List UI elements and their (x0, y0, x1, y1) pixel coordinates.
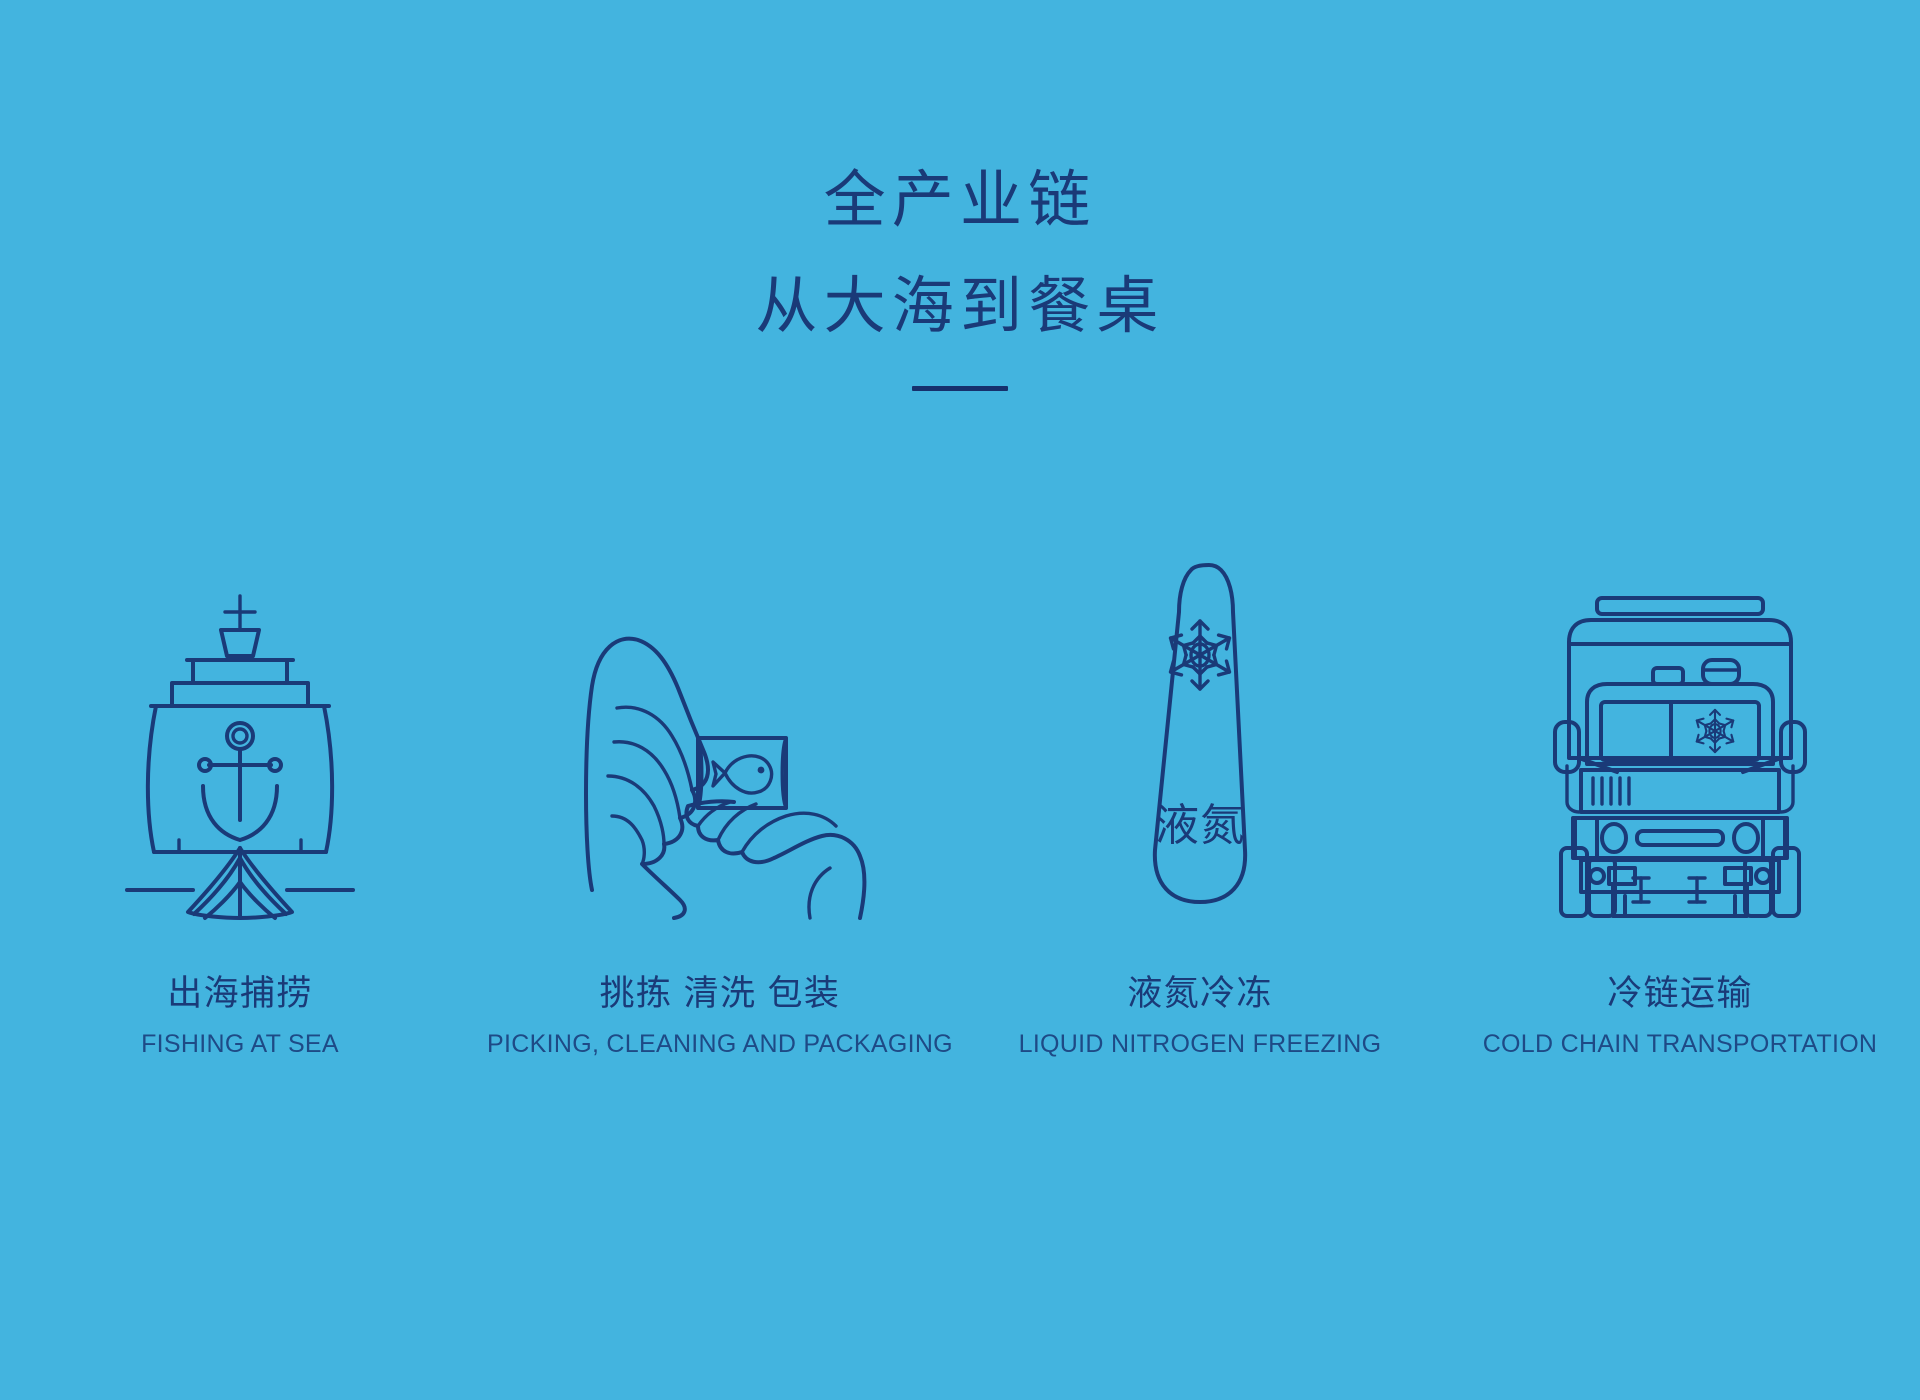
page-title-secondary: 从大海到餐桌 (0, 276, 1920, 338)
icon-slot: 液氮 (1125, 520, 1275, 920)
process-steps: 出海捕捞 FISHING AT SEA (0, 520, 1920, 1059)
hands-fish-package-icon (570, 590, 870, 920)
step-cold-chain-transportation[interactable]: 冷链运输 COLD CHAIN TRANSPORTATION (1440, 520, 1920, 1059)
page-title-primary: 全产业链 (0, 170, 1920, 232)
poster-canvas: 全产业链 从大海到餐桌 (0, 0, 1920, 1400)
step-labels: 挑拣 清洗 包装 PICKING, CLEANING AND PACKAGING (487, 974, 953, 1059)
header: 全产业链 从大海到餐桌 (0, 170, 1920, 391)
refrigerated-truck-icon (1545, 590, 1815, 920)
icon-slot (570, 520, 870, 920)
step-liquid-nitrogen-freezing[interactable]: 液氮 液氮冷冻 LIQUID NITROGEN FREEZING (960, 520, 1440, 1059)
step-label-en: COLD CHAIN TRANSPORTATION (1483, 1030, 1878, 1059)
title-divider-wrap (0, 386, 1920, 391)
step-labels: 液氮冷冻 LIQUID NITROGEN FREEZING (1019, 974, 1382, 1059)
title-divider (912, 386, 1008, 391)
tank-label: 液氮 (1155, 801, 1245, 850)
step-fishing-at-sea[interactable]: 出海捕捞 FISHING AT SEA (0, 520, 480, 1059)
step-labels: 冷链运输 COLD CHAIN TRANSPORTATION (1483, 974, 1878, 1059)
step-label-en: PICKING, CLEANING AND PACKAGING (487, 1030, 953, 1059)
icon-slot (115, 520, 365, 920)
step-labels: 出海捕捞 FISHING AT SEA (141, 974, 339, 1059)
step-label-en: FISHING AT SEA (141, 1030, 339, 1059)
step-label-cn: 液氮冷冻 (1019, 974, 1382, 1014)
step-label-cn: 出海捕捞 (141, 974, 339, 1014)
step-label-en: LIQUID NITROGEN FREEZING (1019, 1030, 1382, 1059)
step-label-cn: 挑拣 清洗 包装 (487, 974, 953, 1014)
snowflake-icon (1694, 710, 1735, 752)
icon-slot (1545, 520, 1815, 920)
liquid-nitrogen-tank-icon: 液氮 (1125, 550, 1275, 920)
step-label-cn: 冷链运输 (1483, 974, 1878, 1014)
fishing-boat-icon (115, 590, 365, 920)
step-picking-cleaning-packaging[interactable]: 挑拣 清洗 包装 PICKING, CLEANING AND PACKAGING (480, 520, 960, 1059)
